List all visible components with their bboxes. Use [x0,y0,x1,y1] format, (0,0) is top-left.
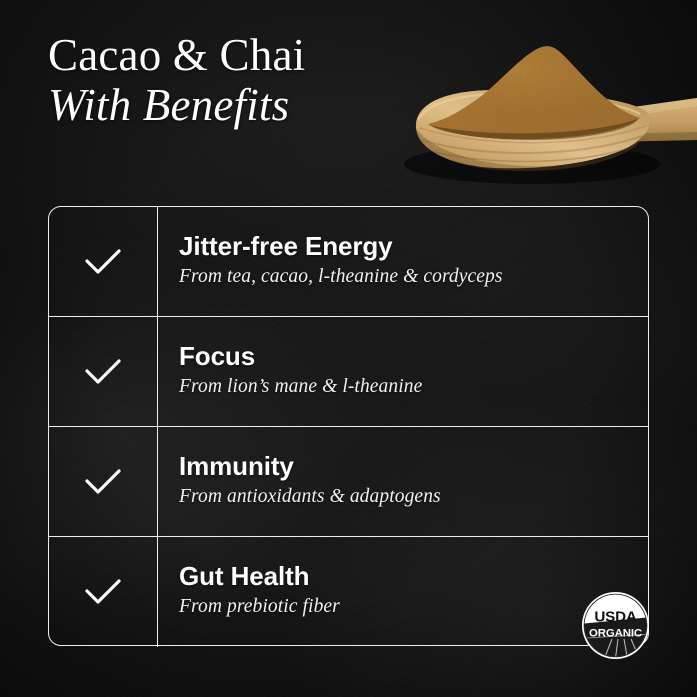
usda-organic-seal: USDA ORGANIC [581,591,650,660]
benefit-check-cell-2 [49,317,158,426]
benefit-text-cell-3: Immunity From antioxidants & adaptogens [158,452,648,511]
benefit-title: Immunity [179,452,648,481]
seal-bottom-text: ORGANIC [589,628,642,640]
benefit-check-cell-4 [49,537,158,647]
benefit-title: Jitter-free Energy [179,232,648,261]
benefit-title: Focus [179,342,648,371]
check-icon [84,578,122,606]
benefits-table: Jitter-free Energy From tea, cacao, l-th… [48,206,649,646]
benefit-title: Gut Health [179,562,648,591]
benefit-text-cell-1: Jitter-free Energy From tea, cacao, l-th… [158,232,648,291]
hero-spoon-image [392,28,697,186]
benefit-subtitle: From lion’s mane & l-theanine [179,375,648,399]
benefit-row-2: Focus From lion’s mane & l-theanine [49,317,648,427]
promo-card: Cacao & Chai With Benefits Jitter-free E… [0,0,697,697]
seal-top-text: USDA [594,609,636,626]
benefit-check-cell-1 [49,207,158,316]
benefit-text-cell-4: Gut Health From prebiotic fiber [158,562,648,621]
headline-line-1: Cacao & Chai [48,33,305,79]
benefit-subtitle: From tea, cacao, l-theanine & cordyceps [179,265,648,289]
benefit-check-cell-3 [49,427,158,536]
benefit-row-3: Immunity From antioxidants & adaptogens [49,427,648,537]
check-icon [84,358,122,386]
benefit-row-1: Jitter-free Energy From tea, cacao, l-th… [49,207,648,317]
benefit-subtitle: From antioxidants & adaptogens [179,485,648,509]
benefit-row-4: Gut Health From prebiotic fiber [49,537,648,647]
check-icon [84,468,122,496]
headline-line-2: With Benefits [48,83,305,129]
check-icon [84,248,122,276]
benefit-subtitle: From prebiotic fiber [179,595,648,619]
page-title: Cacao & Chai With Benefits [48,33,305,129]
benefit-text-cell-2: Focus From lion’s mane & l-theanine [158,342,648,401]
